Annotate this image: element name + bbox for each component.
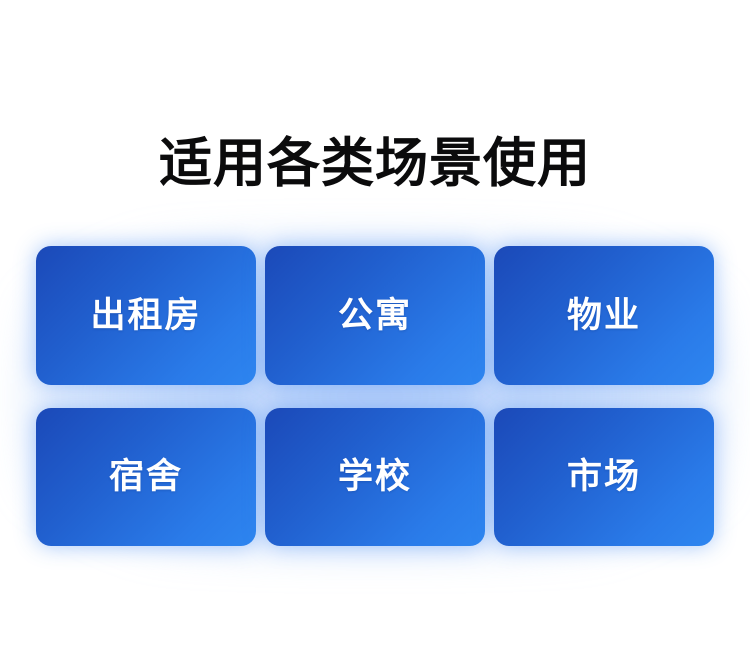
scenario-tile-label: 学校	[338, 459, 412, 494]
scenario-tile-label: 宿舍	[109, 459, 183, 494]
scenario-tile-label: 市场	[567, 459, 641, 494]
scenario-tile-dormitory[interactable]: 宿舍	[36, 408, 256, 547]
page-title: 适用各类场景使用	[0, 128, 750, 200]
scenario-tile-label: 出租房	[90, 298, 201, 333]
scenario-tile-property-management[interactable]: 物业	[494, 246, 714, 385]
scenario-grid: 出租房 公寓 物业 宿舍 学校 市场	[36, 246, 714, 546]
scenario-tile-rental-house[interactable]: 出租房	[36, 246, 256, 385]
scenario-tile-apartment[interactable]: 公寓	[265, 246, 485, 385]
scenario-grid-section: 出租房 公寓 物业 宿舍 学校 市场	[36, 246, 714, 546]
scenario-showcase-page: 适用各类场景使用 出租房 公寓 物业 宿舍 学校 市场	[0, 0, 750, 650]
scenario-tile-market[interactable]: 市场	[494, 408, 714, 547]
scenario-tile-school[interactable]: 学校	[265, 408, 485, 547]
scenario-tile-label: 物业	[567, 298, 641, 333]
scenario-tile-label: 公寓	[338, 298, 412, 333]
